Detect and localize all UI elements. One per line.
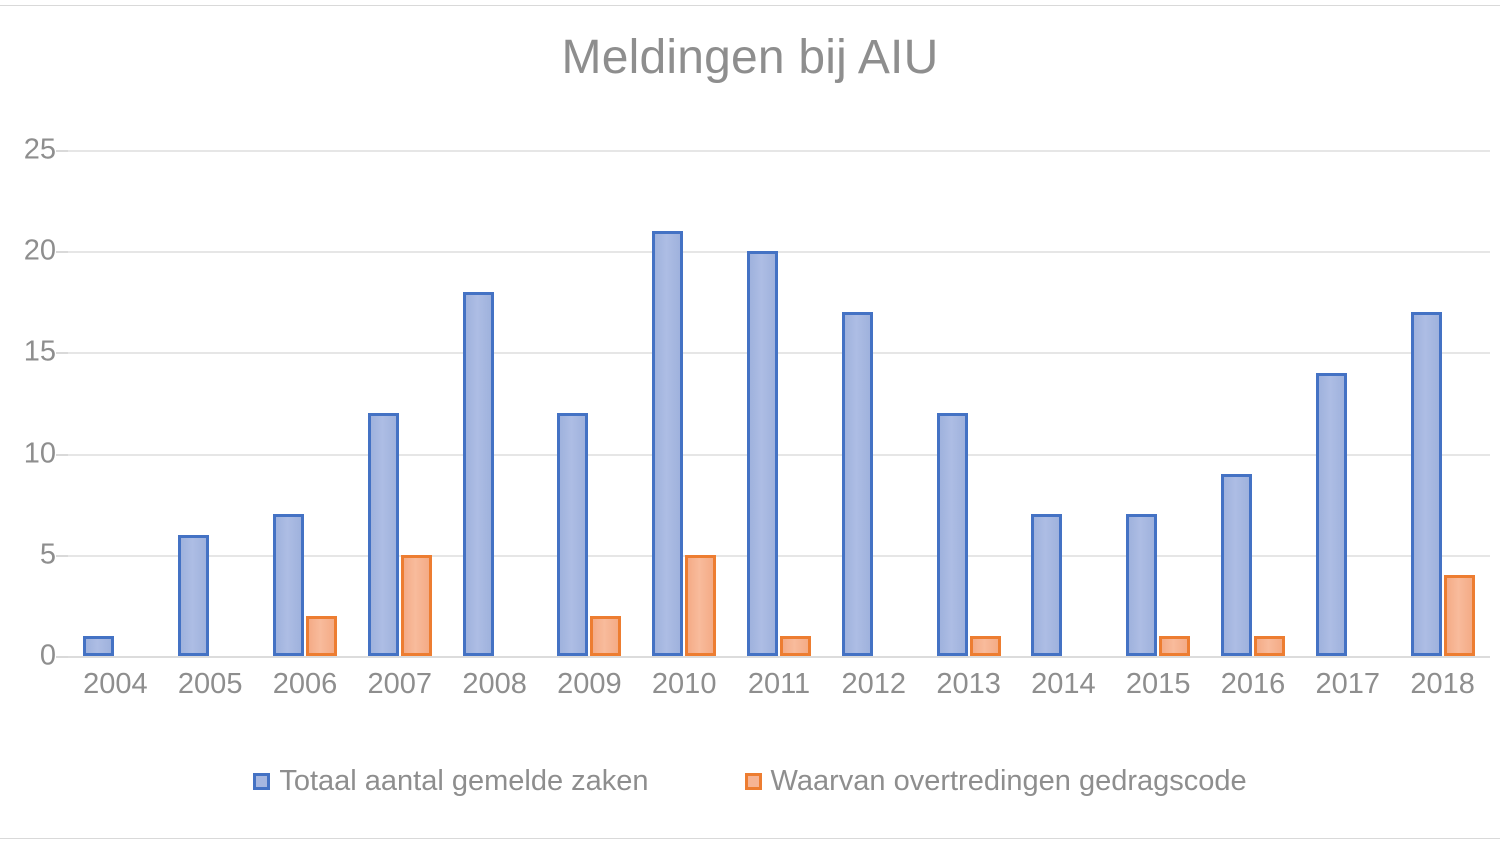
bar-2010-series2[interactable] bbox=[685, 555, 716, 656]
bar-2006-series2[interactable] bbox=[306, 616, 337, 656]
bar-2004-series1[interactable] bbox=[83, 636, 114, 656]
x-axis-tick-label: 2014 bbox=[1031, 668, 1096, 701]
legend-item-series2[interactable]: Waarvan overtredingen gedragscode bbox=[745, 765, 1247, 798]
x-axis-tick-label: 2007 bbox=[368, 668, 433, 701]
y-axis-tick-label: 20 bbox=[2, 235, 56, 268]
bar-2006-series1[interactable] bbox=[273, 514, 304, 656]
legend-swatch-icon bbox=[253, 773, 270, 790]
legend-item-series1[interactable]: Totaal aantal gemelde zaken bbox=[253, 765, 648, 798]
chart-legend: Totaal aantal gemelde zakenWaarvan overt… bbox=[0, 765, 1500, 798]
x-axis-line bbox=[68, 656, 1490, 658]
bar-2013-series2[interactable] bbox=[970, 636, 1001, 656]
bar-2010-series1[interactable] bbox=[652, 231, 683, 656]
x-axis-tick-label: 2011 bbox=[748, 668, 810, 701]
bar-2005-series1[interactable] bbox=[178, 535, 209, 656]
y-tick-mark bbox=[56, 251, 68, 253]
bar-2016-series1[interactable] bbox=[1221, 474, 1252, 656]
bar-2007-series2[interactable] bbox=[401, 555, 432, 656]
x-axis-tick-label: 2008 bbox=[462, 668, 527, 701]
bar-2018-series1[interactable] bbox=[1411, 312, 1442, 656]
y-axis-tick-label: 0 bbox=[2, 640, 56, 673]
y-axis-tick-label: 5 bbox=[2, 538, 56, 571]
bar-2018-series2[interactable] bbox=[1444, 575, 1475, 656]
legend-label: Totaal aantal gemelde zaken bbox=[279, 765, 648, 798]
bars-layer bbox=[68, 150, 1490, 656]
x-axis-tick-label: 2005 bbox=[178, 668, 243, 701]
bar-2007-series1[interactable] bbox=[368, 413, 399, 656]
bar-2015-series2[interactable] bbox=[1159, 636, 1190, 656]
y-tick-mark bbox=[56, 454, 68, 456]
plot-area bbox=[68, 150, 1490, 656]
y-axis-tick-label: 10 bbox=[2, 437, 56, 470]
bar-2008-series1[interactable] bbox=[463, 292, 494, 656]
bar-2013-series1[interactable] bbox=[937, 413, 968, 656]
y-tick-mark bbox=[56, 656, 68, 658]
x-axis-tick-label: 2006 bbox=[273, 668, 338, 701]
bar-2009-series1[interactable] bbox=[557, 413, 588, 656]
chart-plot: 0510152025 20042005200620072008200920102… bbox=[0, 0, 1500, 844]
bar-2009-series2[interactable] bbox=[590, 616, 621, 656]
bar-2017-series1[interactable] bbox=[1316, 373, 1347, 656]
x-axis-tick-label: 2017 bbox=[1316, 668, 1381, 701]
y-tick-mark bbox=[56, 555, 68, 557]
bar-2012-series1[interactable] bbox=[842, 312, 873, 656]
y-axis-tick-label: 15 bbox=[2, 336, 56, 369]
x-axis-tick-label: 2016 bbox=[1221, 668, 1286, 701]
x-axis-tick-label: 2009 bbox=[557, 668, 622, 701]
bar-2015-series1[interactable] bbox=[1126, 514, 1157, 656]
x-axis-tick-label: 2013 bbox=[936, 668, 1001, 701]
x-axis-tick-label: 2004 bbox=[83, 668, 148, 701]
x-axis-tick-label: 2018 bbox=[1410, 668, 1475, 701]
x-axis-tick-label: 2015 bbox=[1126, 668, 1191, 701]
y-tick-mark bbox=[56, 352, 68, 354]
bar-2016-series2[interactable] bbox=[1254, 636, 1285, 656]
bar-2014-series1[interactable] bbox=[1031, 514, 1062, 656]
y-tick-mark bbox=[56, 150, 68, 152]
bar-2011-series1[interactable] bbox=[747, 251, 778, 656]
x-axis-tick-label: 2010 bbox=[652, 668, 717, 701]
legend-swatch-icon bbox=[745, 773, 762, 790]
legend-label: Waarvan overtredingen gedragscode bbox=[771, 765, 1247, 798]
y-axis-tick-label: 25 bbox=[2, 134, 56, 167]
bar-2011-series2[interactable] bbox=[780, 636, 811, 656]
x-axis-tick-label: 2012 bbox=[842, 668, 907, 701]
